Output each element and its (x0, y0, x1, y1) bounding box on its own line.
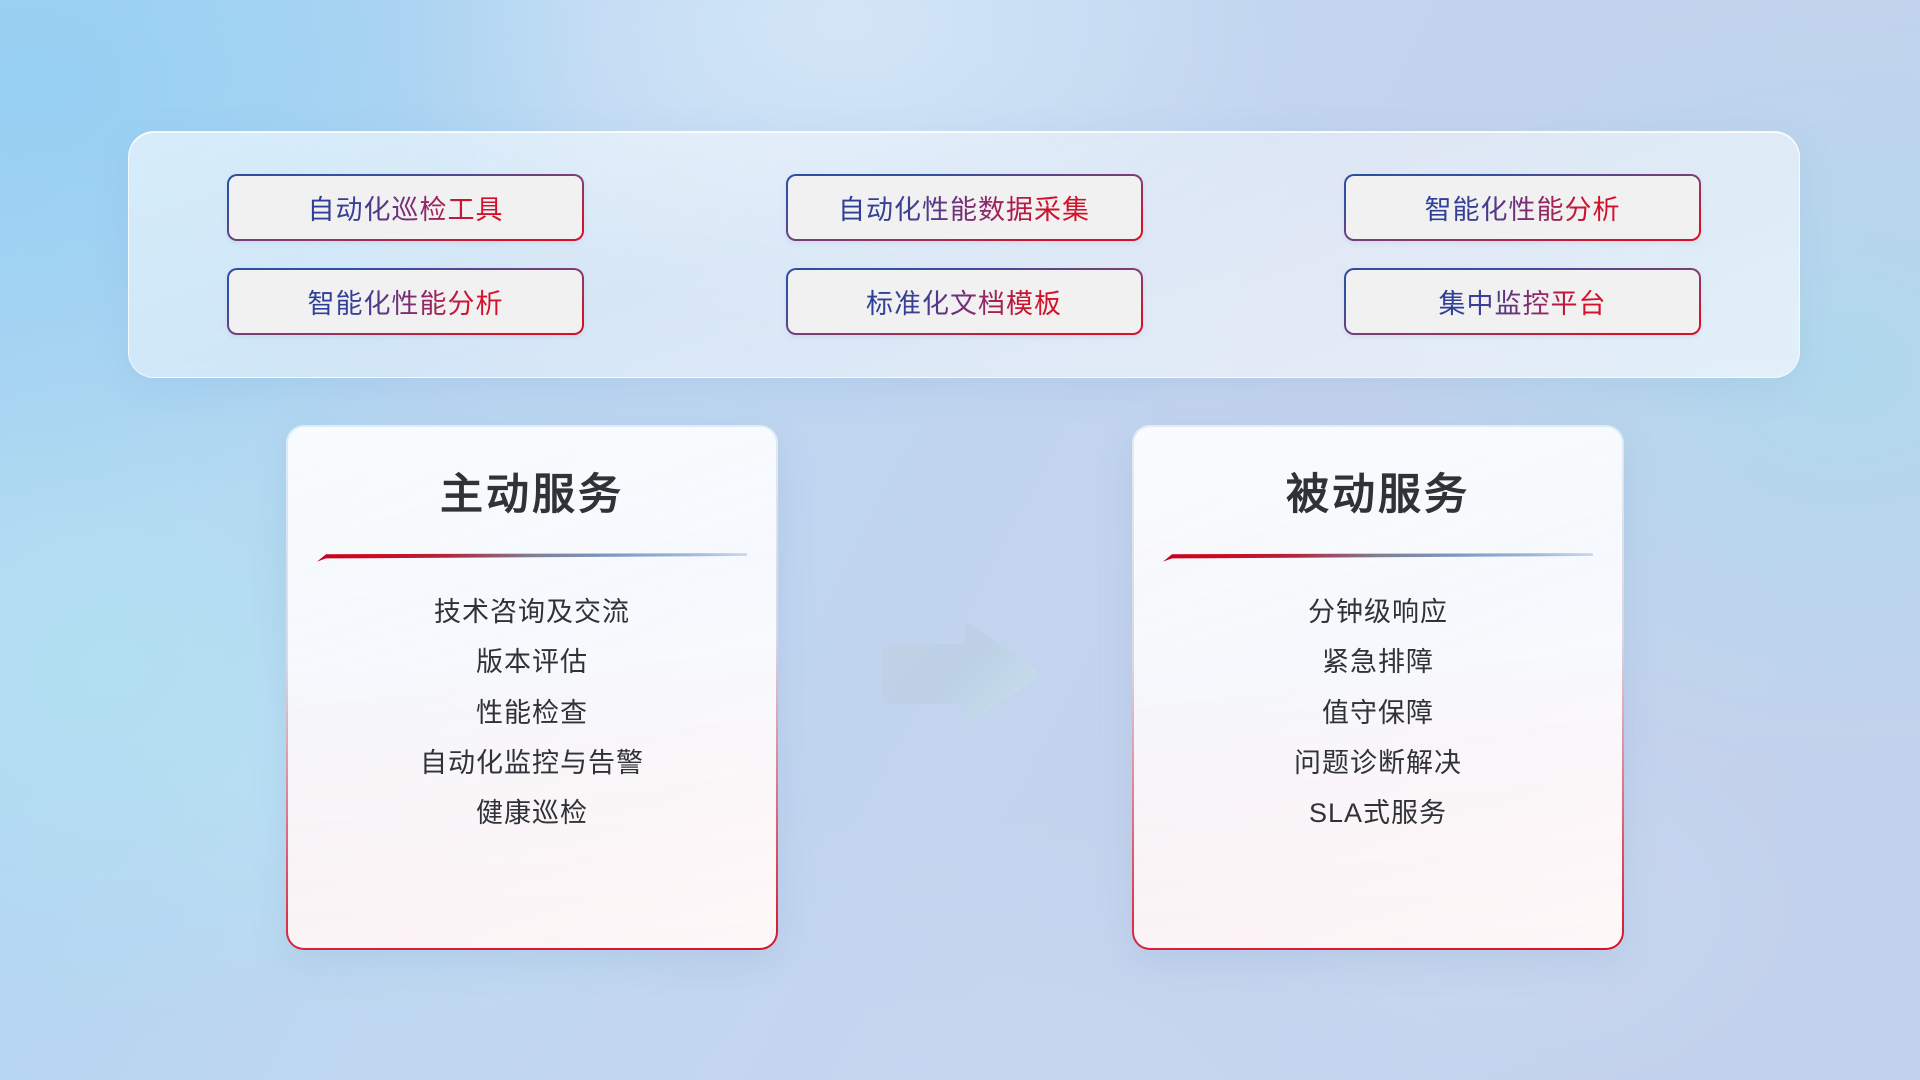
list-item: 技术咨询及交流 (288, 593, 776, 631)
passive-service-list: 分钟级响应 紧急排障 值守保障 问题诊断解决 SLA式服务 (1134, 593, 1622, 833)
capability-tag-label: 标准化文档模板 (866, 282, 1062, 321)
list-item: 分钟级响应 (1134, 593, 1622, 631)
passive-service-divider (1163, 549, 1593, 559)
list-item: SLA式服务 (1134, 794, 1622, 832)
active-service-list: 技术咨询及交流 版本评估 性能检查 自动化监控与告警 健康巡检 (288, 593, 776, 833)
capability-tag-automation-performance-collection[interactable]: 自动化性能数据采集 (786, 174, 1143, 241)
list-item: 版本评估 (288, 643, 776, 681)
list-item: 紧急排障 (1134, 643, 1622, 681)
list-item: 健康巡检 (288, 794, 776, 832)
active-service-card: 主动服务 技术咨询及交流 版本评估 性能检查 自动化监控与告警 健康巡检 (286, 425, 778, 950)
capability-tag-centralized-monitoring-platform[interactable]: 集中监控平台 (1344, 268, 1701, 335)
capability-tag-intelligent-performance-analysis[interactable]: 智能化性能分析 (1344, 174, 1701, 241)
capability-tag-label: 自动化巡检工具 (308, 188, 504, 227)
passive-service-card: 被动服务 分钟级响应 紧急排障 值守保障 问题诊断解决 SLA式服务 (1132, 425, 1624, 950)
capability-tag-label: 智能化性能分析 (1425, 188, 1621, 227)
passive-service-title: 被动服务 (1134, 460, 1622, 522)
flow-arrow-right-icon (872, 620, 1040, 730)
capability-tag-automation-inspection-tool[interactable]: 自动化巡检工具 (227, 174, 584, 241)
list-item: 自动化监控与告警 (288, 744, 776, 782)
capability-tag-label: 自动化性能数据采集 (838, 188, 1090, 227)
capability-tag-standard-doc-template[interactable]: 标准化文档模板 (786, 268, 1143, 335)
capability-tag-label: 集中监控平台 (1439, 282, 1607, 321)
list-item: 值守保障 (1134, 694, 1622, 732)
list-item: 性能检查 (288, 694, 776, 732)
capability-tags-row-1: 自动化巡检工具 自动化性能数据采集 智能化性能分析 (227, 174, 1701, 241)
capability-tags-panel: 自动化巡检工具 自动化性能数据采集 智能化性能分析 智能化性能分析 标准化文档模… (128, 131, 1800, 378)
capability-tag-intelligent-performance-analysis-2[interactable]: 智能化性能分析 (227, 268, 584, 335)
active-service-title: 主动服务 (288, 460, 776, 522)
list-item: 问题诊断解决 (1134, 744, 1622, 782)
active-service-divider (317, 549, 747, 559)
capability-tag-label: 智能化性能分析 (308, 282, 504, 321)
capability-tags-row-2: 智能化性能分析 标准化文档模板 集中监控平台 (227, 268, 1701, 335)
